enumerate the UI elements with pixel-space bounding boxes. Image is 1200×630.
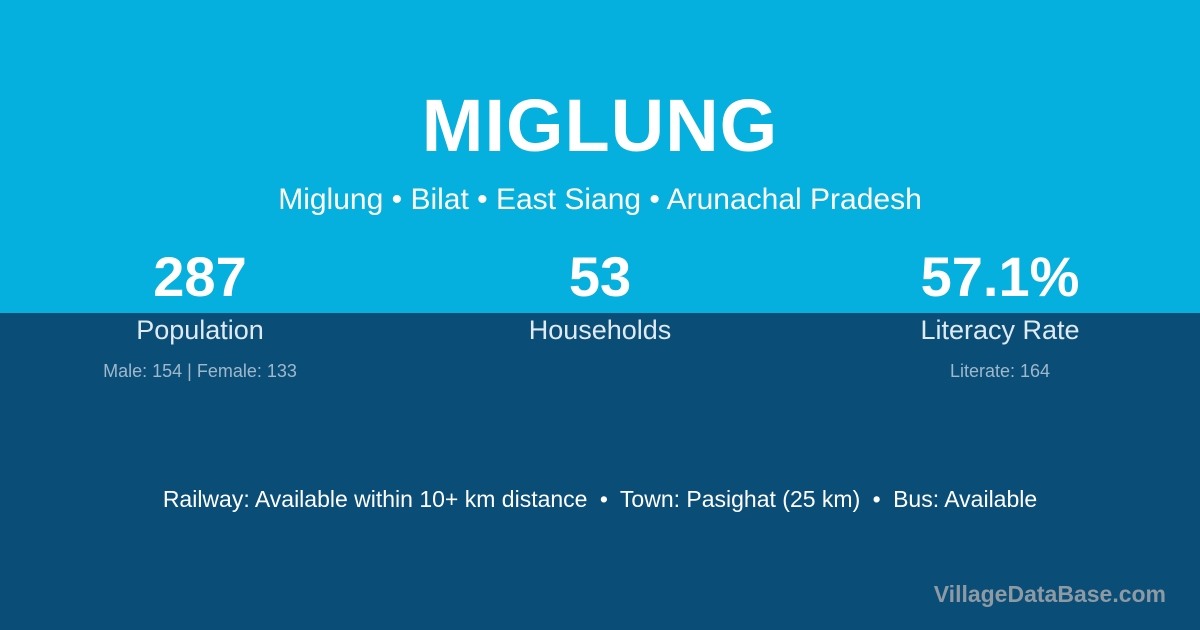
facilities-line: Railway: Available within 10+ km distanc… (0, 483, 1200, 515)
breadcrumb: Miglung • Bilat • East Siang • Arunachal… (0, 181, 1200, 219)
stat-households-detail (400, 359, 800, 383)
stat-literacy-rate-value: 57.1% (800, 244, 1200, 310)
stat-literacy-rate-label: Literacy Rate (800, 313, 1200, 347)
stat-population-value: 287 (0, 244, 400, 310)
stat-households-value: 53 (400, 244, 800, 310)
stat-population-detail: Male: 154 | Female: 133 (0, 359, 400, 383)
site-watermark: VillageDataBase.com (934, 580, 1166, 608)
stat-literacy-rate-detail: Literate: 164 (800, 359, 1200, 383)
facility-railway: Railway: Available within 10+ km distanc… (163, 486, 588, 512)
facility-bus: Bus: Available (893, 486, 1037, 512)
stat-literacy-rate: 57.1% Literacy Rate Literate: 164 (800, 244, 1200, 383)
stats-row: 287 Population Male: 154 | Female: 133 5… (0, 244, 1200, 383)
facility-separator-icon: • (867, 486, 887, 512)
stat-households-label: Households (400, 313, 800, 347)
village-info-card: MIGLUNG Miglung • Bilat • East Siang • A… (0, 0, 1200, 630)
page-title: MIGLUNG (0, 82, 1200, 170)
facility-town: Town: Pasighat (25 km) (620, 486, 860, 512)
stat-population: 287 Population Male: 154 | Female: 133 (0, 244, 400, 383)
facility-separator-icon: • (594, 486, 614, 512)
stat-households: 53 Households (400, 244, 800, 383)
stat-population-label: Population (0, 313, 400, 347)
